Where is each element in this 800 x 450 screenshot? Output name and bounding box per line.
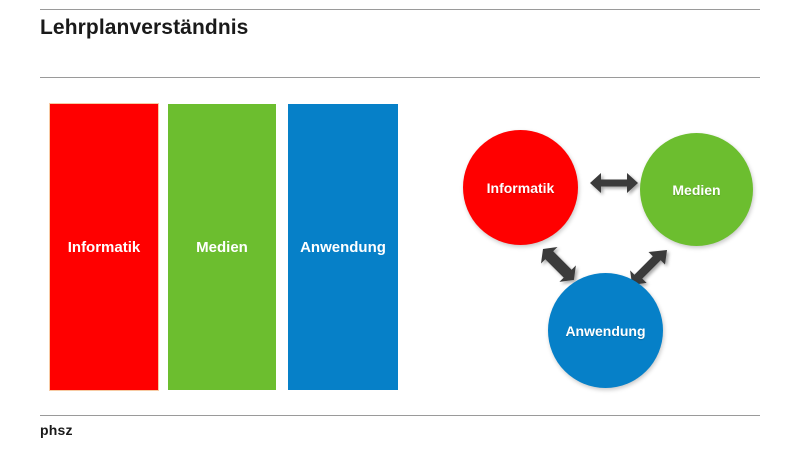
header-top-divider bbox=[40, 9, 760, 10]
footer-brand: phsz bbox=[40, 422, 73, 438]
double-arrow-icon-informatik-medien bbox=[590, 173, 638, 193]
header-bottom-divider bbox=[40, 77, 760, 78]
bar-group: Informatik Medien Anwendung bbox=[50, 104, 400, 390]
circle-label-medien: Medien bbox=[672, 183, 720, 197]
slide-canvas: Lehrplanverständnis Informatik Medien An… bbox=[0, 0, 800, 450]
circle-label-anwendung: Anwendung bbox=[565, 324, 645, 338]
double-arrow-icon-informatik-anwendung bbox=[541, 247, 576, 282]
circle-label-informatik: Informatik bbox=[487, 181, 555, 195]
bar-label-anwendung: Anwendung bbox=[300, 240, 386, 255]
bar-medien: Medien bbox=[168, 104, 276, 390]
circle-node-informatik: Informatik bbox=[463, 130, 578, 245]
bar-informatik: Informatik bbox=[50, 104, 158, 390]
circle-node-medien: Medien bbox=[640, 133, 753, 246]
bar-label-informatik: Informatik bbox=[68, 240, 141, 255]
footer-divider bbox=[40, 415, 760, 416]
circle-node-anwendung: Anwendung bbox=[548, 273, 663, 388]
double-arrow-icon-medien-anwendung bbox=[630, 250, 667, 285]
circle-diagram: Informatik Medien Anwendung bbox=[440, 100, 780, 400]
bar-anwendung: Anwendung bbox=[288, 104, 398, 390]
bar-label-medien: Medien bbox=[196, 240, 248, 255]
page-title: Lehrplanverständnis bbox=[40, 16, 248, 40]
